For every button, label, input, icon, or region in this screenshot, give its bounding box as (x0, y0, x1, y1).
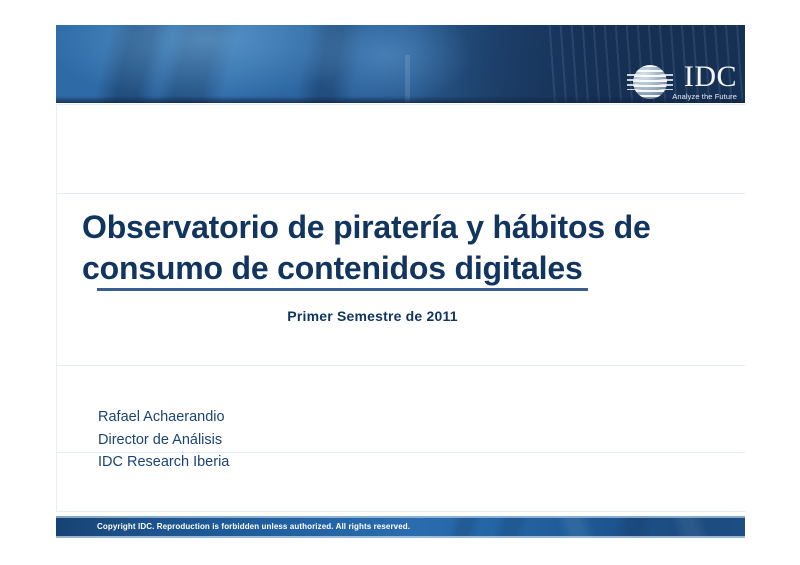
slide-canvas: IDC Analyze the Future Observatorio de p… (0, 0, 800, 565)
author-role: Director de Análisis (98, 429, 229, 452)
page-title-line-2: consumo de contenidos digitales (82, 248, 712, 289)
globe-wings (627, 74, 673, 90)
layout-guide-rule-1 (56, 104, 745, 105)
author-block: Rafael Achaerandio Director de Análisis … (98, 406, 229, 474)
footer-texture-overlay (435, 516, 745, 538)
author-organization: IDC Research Iberia (98, 451, 229, 474)
idc-tagline: Analyze the Future (672, 93, 737, 101)
page-subtitle: Primer Semestre de 2011 (0, 308, 745, 324)
page-title: Observatorio de piratería y hábitos de c… (82, 207, 712, 289)
idc-header-banner: IDC Analyze the Future (56, 25, 745, 103)
author-name: Rafael Achaerandio (98, 406, 229, 429)
page-title-line-1: Observatorio de piratería y hábitos de (82, 207, 712, 248)
layout-guide-rule-2 (56, 193, 745, 194)
footer-bar: Copyright IDC. Reproduction is forbidden… (56, 516, 745, 538)
idc-globe-icon (633, 65, 667, 99)
idc-logo: IDC Analyze the Future (633, 63, 737, 100)
title-underline-rule (97, 288, 588, 291)
idc-wordmark: IDC Analyze the Future (672, 63, 737, 100)
layout-guide-rule-3 (56, 365, 745, 366)
layout-guide-rule-5 (56, 511, 745, 512)
copyright-notice: Copyright IDC. Reproduction is forbidden… (97, 516, 410, 538)
idc-wordmark-text: IDC (684, 63, 737, 91)
